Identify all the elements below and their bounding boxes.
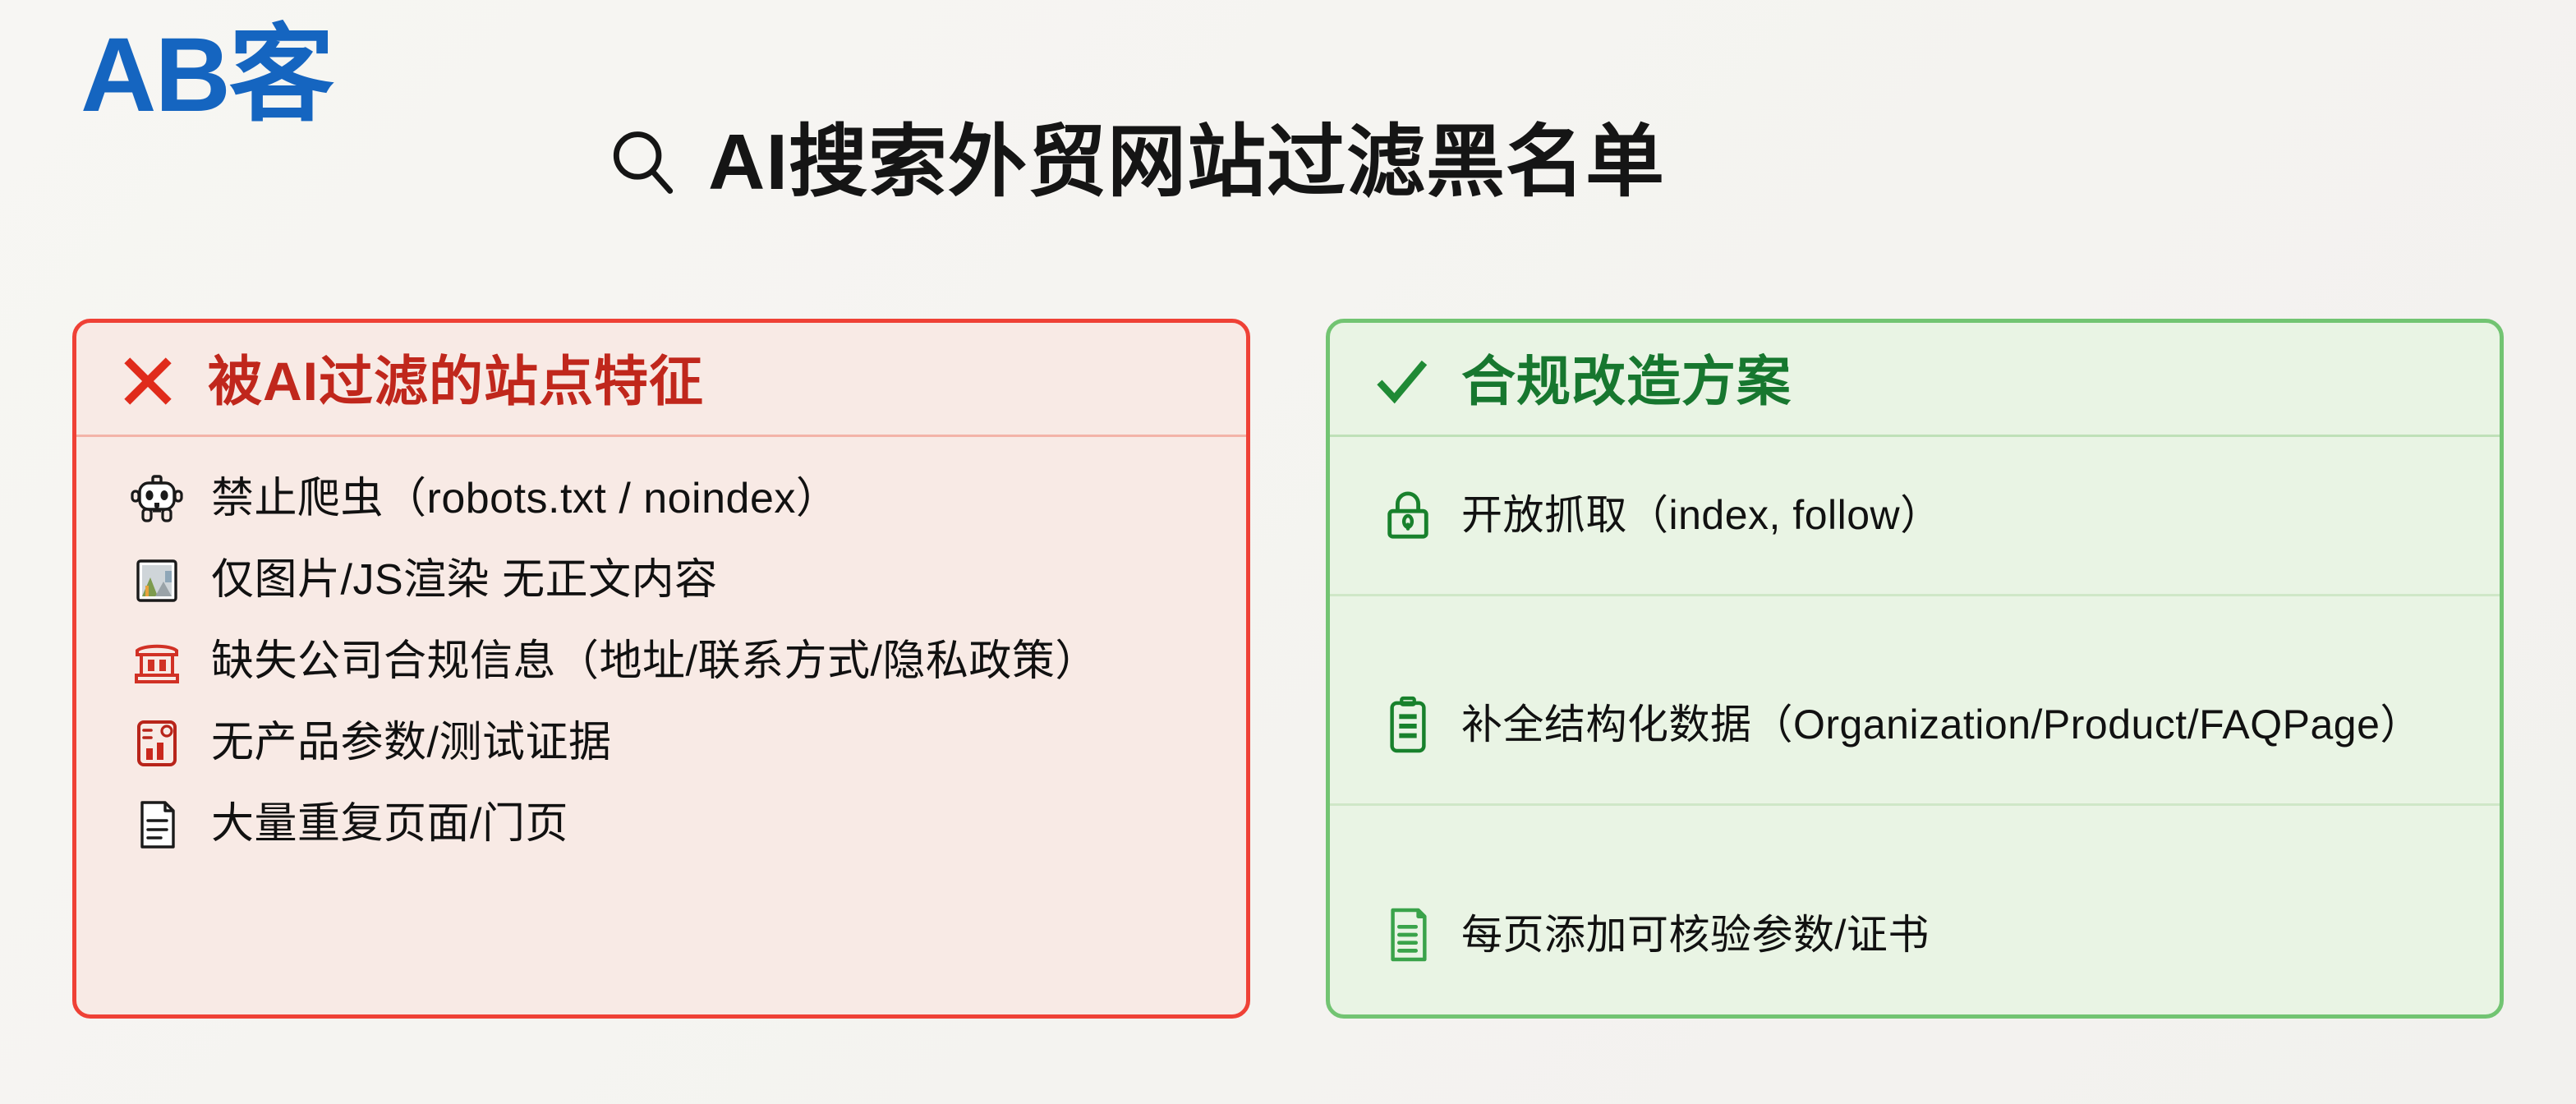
list-item-label: 禁止爬虫（robots.txt / noindex） <box>211 476 839 522</box>
list-item-label: 无产品参数/测试证据 <box>211 720 611 766</box>
image-icon <box>131 554 183 607</box>
cards-container: 被AI过滤的站点特征 禁止爬虫（robots.txt / noindex） <box>72 319 2504 1019</box>
document-lines-icon <box>1382 905 1433 964</box>
brand-logo: AB客 <box>80 23 333 128</box>
page-title: AI搜索外贸网站过滤黑名单 <box>708 123 1665 202</box>
card-compliance-plan: 合规改造方案 开放抓取（index, follow） <box>1326 319 2504 1019</box>
card-header-compliance: 合规改造方案 <box>1330 323 2500 437</box>
cross-icon <box>119 352 177 410</box>
list-item-label: 大量重复页面/门页 <box>211 801 568 848</box>
list-item-label: 仅图片/JS渲染 无正文内容 <box>211 557 718 604</box>
list-item-label: 补全结构化数据（Organization/Product/FAQPage） <box>1461 702 2422 747</box>
card-body-compliance: 开放抓取（index, follow） 补全结构化数据（Organization… <box>1330 437 2500 1014</box>
title-row: AI搜索外贸网站过滤黑名单 <box>608 123 1665 202</box>
search-icon <box>608 127 678 198</box>
list-item: 每页添加可核验参数/证书 <box>1330 855 2500 1014</box>
list-item: 仅图片/JS渲染 无正文内容 <box>76 540 1246 621</box>
list-item: 开放抓取（index, follow） <box>1330 437 2500 596</box>
card-title-compliance: 合规改造方案 <box>1461 354 1792 408</box>
list-item: 补全结构化数据（Organization/Product/FAQPage） <box>1330 646 2500 806</box>
list-item: 缺失公司合规信息（地址/联系方式/隐私政策） <box>76 621 1246 702</box>
list-item-label: 开放抓取（index, follow） <box>1461 493 1942 538</box>
card-header-filtered: 被AI过滤的站点特征 <box>76 323 1246 437</box>
list-item-label: 每页添加可核验参数/证书 <box>1461 913 1930 958</box>
clipboard-icon <box>1382 695 1433 754</box>
page-header: AB客 AI搜索外贸网站过滤黑名单 <box>0 0 2576 279</box>
robot-icon <box>131 473 183 526</box>
list-item-label: 缺失公司合规信息（地址/联系方式/隐私政策） <box>211 638 1098 685</box>
card-filtered-characteristics: 被AI过滤的站点特征 禁止爬虫（robots.txt / noindex） <box>72 319 1250 1019</box>
card-title-filtered: 被AI过滤的站点特征 <box>208 354 704 408</box>
lock-icon <box>1382 486 1433 545</box>
list-item: 大量重复页面/门页 <box>76 784 1246 865</box>
bank-icon <box>131 636 183 688</box>
list-item: 无产品参数/测试证据 <box>76 702 1246 784</box>
chart-report-icon <box>131 717 183 770</box>
document-icon <box>131 798 183 851</box>
list-item: 禁止爬虫（robots.txt / noindex） <box>76 458 1246 540</box>
card-body-filtered: 禁止爬虫（robots.txt / noindex） 仅图片/JS渲染 无正文内… <box>76 437 1246 1014</box>
check-icon <box>1373 352 1430 410</box>
